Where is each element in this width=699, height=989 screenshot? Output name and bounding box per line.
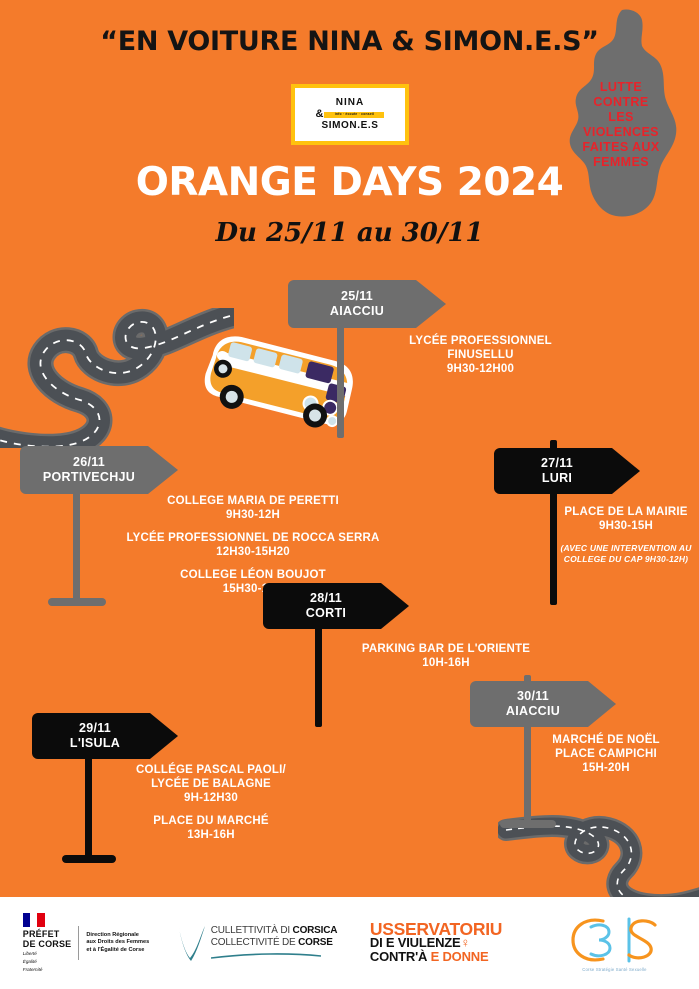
event-place-line: COLLÉGE PASCAL PAOLI/ [96, 763, 326, 777]
event-block: LYCÉE PROFESSIONNEL FINUSELLU 9H30-12H00 [348, 334, 613, 376]
event-block: COLLEGE MARIA DE PERETTI 9H30-12H [88, 494, 418, 522]
poster-canvas: LUTTE CONTRE LES VIOLENCES FAITES AUX FE… [0, 0, 699, 989]
poster-headline: “EN VOITURE NINA & SIMON.E.S” [0, 26, 699, 57]
logo-usservatoriu: USSERVATORIU DI E VIULENZE♀ CONTR'À E DO… [342, 897, 530, 989]
event-time: 9H30-15H [556, 519, 696, 533]
event-place-line: PLACE DU MARCHÉ [96, 814, 326, 828]
devise-fraternite: Fraternité [23, 967, 72, 973]
details-stop-27-11: PLACE DE LA MAIRIE 9H30-15H (AVEC UNE IN… [556, 505, 696, 565]
event-block: LYCÉE PROFESSIONNEL DE ROCCA SERRA 12H30… [88, 531, 418, 559]
date-range-subtitle: Du 25/11 au 30/11 [0, 218, 699, 248]
collectivite-line-1: CULLETTIVITÀ DI CORSICA [211, 925, 338, 937]
logo-line-simones: SIMON.E.S [316, 121, 385, 131]
usservatoriu-line-3-accent: E DONNE [431, 949, 489, 964]
underline-swoosh [211, 953, 321, 959]
signpost-base-29-11 [62, 855, 116, 863]
sign-stop-27-11[interactable]: 27/11 LURI [494, 448, 642, 494]
devise-egalite: Égalité [23, 959, 72, 965]
collectivite-line-1-normal: CULLETTIVITÀ DI [211, 925, 293, 936]
service-line-1: Direction Régionale [86, 932, 149, 940]
sign-stop-29-11[interactable]: 29/11 L'ISULA [32, 713, 180, 759]
french-flag-icon [23, 913, 45, 927]
service-line-3: et à l'Égalité de Corse [86, 947, 149, 955]
event-place-line: LYCÉE PROFESSIONNEL [348, 334, 613, 348]
details-stop-25-11: LYCÉE PROFESSIONNEL FINUSELLU 9H30-12H00 [348, 334, 613, 376]
logo-line-nina: NINA [316, 98, 385, 108]
logo-collectivite-de-corse: CULLETTIVITÀ DI CORSICA COLLECTIVITÉ DE … [172, 897, 342, 989]
event-place-line: COLLEGE LÉON BOUJOT [88, 568, 418, 582]
event-time: 9H30-12H00 [348, 362, 613, 376]
footer-logo-bar: PRÉFET DE CORSE Liberté Égalité Fraterni… [0, 897, 699, 989]
event-time: 15H-20H [516, 761, 696, 775]
event-place-line: PARKING BAR DE L'ORIENTE [326, 642, 566, 656]
logo-tagline-bar: info · écoute · conseil [324, 112, 384, 118]
collectivite-line-2-bold: CORSE [298, 937, 333, 948]
corsica-slogan-line-4: VIOLENCES [556, 125, 686, 140]
corsica-slogan-line-1: LUTTE [556, 80, 686, 95]
event-time: 10H-16H [326, 656, 566, 670]
logo-prefet-de-corse: PRÉFET DE CORSE Liberté Égalité Fraterni… [0, 897, 172, 989]
event-block: PARKING BAR DE L'ORIENTE 10H-16H [326, 642, 566, 670]
sign-stop-28-11[interactable]: 28/11 CORTI [263, 583, 411, 629]
sign-stop-25-11[interactable]: 25/11 AIACCIU [288, 280, 448, 328]
signpost-base-30-11 [500, 820, 556, 828]
usservatoriu-line-2-text: DI E VIULENZE [370, 935, 461, 950]
event-block: COLLÉGE PASCAL PAOLI/ LYCÉE DE BALAGNE 9… [96, 763, 326, 805]
sign-stop-30-11[interactable]: 30/11 AIACCIU [470, 681, 618, 727]
event-block: PLACE DU MARCHÉ 13H-16H [96, 814, 326, 842]
event-note: (AVEC UNE INTERVENTION AU COLLEGE DU CAP… [556, 543, 696, 565]
details-stop-26-11: COLLEGE MARIA DE PERETTI 9H30-12H LYCÉE … [88, 494, 418, 596]
corsica-slogan-line-3: LES [556, 110, 686, 125]
event-time: 12H30-15H20 [88, 545, 418, 559]
checkmark-icon [177, 924, 207, 962]
details-stop-30-11: MARCHÉ DE NOËL PLACE CAMPICHI 15H-20H [516, 733, 696, 775]
logo-c3s: Corse Stratégie Santé Sexuelle [530, 897, 699, 989]
usservatoriu-line-3: CONTR'À E DONNE [370, 950, 502, 964]
collectivite-line-2: COLLECTIVITÉ DE CORSE [211, 937, 338, 949]
event-block: MARCHÉ DE NOËL PLACE CAMPICHI 15H-20H [516, 733, 696, 775]
event-place-line: LYCÉE DE BALAGNE [96, 777, 326, 791]
corsica-slogan-line-5: FAITES AUX [556, 140, 686, 155]
usservatoriu-line-3-normal: CONTR'À [370, 949, 431, 964]
venus-symbol-icon: ♀ [460, 935, 470, 950]
prefet-name-line-2: DE CORSE [23, 939, 72, 949]
event-place-line: PLACE CAMPICHI [516, 747, 696, 761]
collectivite-line-2-normal: COLLECTIVITÉ DE [211, 937, 298, 948]
event-place-line: FINUSELLU [348, 348, 613, 362]
corsica-slogan: LUTTE CONTRE LES VIOLENCES FAITES AUX FE… [556, 80, 686, 170]
collectivite-line-1-bold: CORSICA [293, 925, 338, 936]
event-time: 9H-12H30 [96, 791, 326, 805]
event-time: 9H30-12H [88, 508, 418, 522]
event-place-line: COLLEGE MARIA DE PERETTI [88, 494, 418, 508]
details-stop-29-11: COLLÉGE PASCAL PAOLI/ LYCÉE DE BALAGNE 9… [96, 763, 326, 842]
event-place-line: MARCHÉ DE NOËL [516, 733, 696, 747]
event-place-line: LYCÉE PROFESSIONNEL DE ROCCA SERRA [88, 531, 418, 545]
logo-tagline: info · écoute · conseil [335, 113, 374, 116]
nina-simones-logo: NINA & info · écoute · conseil SIMON.E.S [291, 84, 409, 145]
divider [78, 926, 79, 960]
prefet-name-line-1: PRÉFET [23, 929, 72, 939]
devise-liberte: Liberté [23, 951, 72, 957]
usservatoriu-line-1: USSERVATORIU [370, 922, 502, 936]
c3s-mark-icon [569, 915, 661, 965]
corsica-slogan-line-2: CONTRE [556, 95, 686, 110]
event-time: 13H-16H [96, 828, 326, 842]
c3s-caption: Corse Stratégie Santé Sexuelle [569, 967, 661, 972]
page-title: ORANGE DAYS 2024 [0, 160, 699, 205]
signpost-base-26-11 [48, 598, 106, 606]
event-place-line: PLACE DE LA MAIRIE [556, 505, 696, 519]
service-line-2: aux Droits des Femmes [86, 939, 149, 947]
logo-ampersand: & [316, 109, 324, 120]
details-stop-28-11: PARKING BAR DE L'ORIENTE 10H-16H [326, 642, 566, 670]
sign-stop-26-11[interactable]: 26/11 PORTIVECHJU [20, 446, 180, 494]
event-block: PLACE DE LA MAIRIE 9H30-15H [556, 505, 696, 533]
